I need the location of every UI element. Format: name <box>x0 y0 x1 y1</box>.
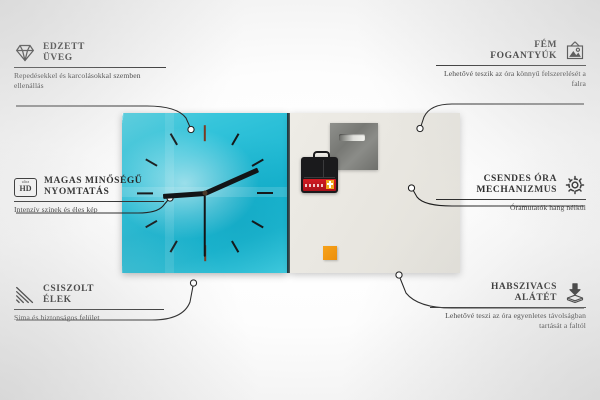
product-photo <box>122 113 460 273</box>
callout-title-high-quality-print: MAGAS MINŐSÉGŰ NYOMTATÁS <box>44 176 142 198</box>
clock-tick <box>231 134 239 146</box>
callout-rule <box>14 67 166 68</box>
quartz-clock-mechanism <box>301 157 338 193</box>
callout-metal-handles: FÉM FOGANTYÚK Lehetővé teszik az óra kön… <box>436 40 586 89</box>
clock-tick <box>170 134 178 146</box>
press-pad-icon <box>564 283 586 303</box>
callout-rule <box>14 201 164 202</box>
clock-tick <box>252 158 264 166</box>
foam-spacer-pad <box>323 246 337 260</box>
mechanism-seam-horizontal <box>304 177 335 178</box>
callout-title-foam-pad: HABSZIVACS ALÁTÉT <box>491 282 557 304</box>
callout-desc-polished-edges: Sima és biztonságos felület <box>14 313 164 323</box>
gear-icon <box>564 175 586 195</box>
callout-title-tempered-glass: EDZETT ÜVEG <box>43 42 85 64</box>
second-hand <box>204 193 206 257</box>
battery-label <box>303 179 336 191</box>
callout-rule <box>436 199 586 200</box>
infographic-canvas: EDZETT ÜVEG Repedésekkel és karcolásokka… <box>0 0 600 400</box>
beveled-edge-icon <box>14 285 36 305</box>
callout-rule <box>14 309 164 310</box>
mechanism-seam-vertical <box>323 160 324 177</box>
callout-silent-mechanism: CSENDES ÓRA MECHANIZMUS Óramutatók hang … <box>436 174 586 213</box>
clock-tick <box>257 192 273 194</box>
callout-rule <box>430 307 586 308</box>
hour-hand <box>162 191 204 199</box>
picture-hanger-icon <box>564 41 586 61</box>
hanger-slot <box>339 134 365 141</box>
callout-title-metal-handles: FÉM FOGANTYÚK <box>490 40 557 62</box>
clock-tick <box>170 240 178 252</box>
clock-tick <box>203 125 205 141</box>
clock-tick <box>145 220 157 228</box>
callout-title-silent-mechanism: CSENDES ÓRA MECHANIZMUS <box>477 174 557 196</box>
clock-tick <box>145 158 157 166</box>
battery-plus-marker <box>326 180 334 189</box>
callout-desc-silent-mechanism: Óramutatók hang nélkül <box>436 203 586 213</box>
mechanism-hanging-loop <box>313 151 330 162</box>
battery-label-text <box>305 184 325 187</box>
ultra-hd-icon-large-text: HD <box>20 185 32 193</box>
callout-desc-high-quality-print: Intenzív színek és éles kép <box>14 205 164 215</box>
leader-dot-polished-edges <box>190 280 196 286</box>
callout-foam-pad: HABSZIVACS ALÁTÉT Lehetővé teszi az óra … <box>430 282 586 331</box>
clock-tick <box>231 240 239 252</box>
ultra-hd-icon: ultra HD <box>14 178 37 197</box>
callout-tempered-glass: EDZETT ÜVEG Repedésekkel és karcolásokka… <box>14 42 166 91</box>
clock-hand-hub <box>202 191 207 196</box>
callout-rule <box>436 65 586 66</box>
clock-back-face <box>290 113 460 273</box>
clock-tick <box>252 220 264 228</box>
diamond-icon <box>14 43 36 63</box>
callout-desc-foam-pad: Lehetővé teszi az óra egyenletes távolsá… <box>430 311 586 331</box>
callout-desc-metal-handles: Lehetővé teszik az óra könnyű felszerelé… <box>436 69 586 89</box>
callout-title-polished-edges: CSISZOLT ÉLEK <box>43 284 94 306</box>
callout-desc-tempered-glass: Repedésekkel és karcolásokkal szemben el… <box>14 71 166 91</box>
callout-polished-edges: CSISZOLT ÉLEK Sima és biztonságos felüle… <box>14 284 164 323</box>
minute-hand <box>204 167 259 195</box>
callout-high-quality-print: ultra HD MAGAS MINŐSÉGŰ NYOMTATÁS Intenz… <box>14 176 164 215</box>
